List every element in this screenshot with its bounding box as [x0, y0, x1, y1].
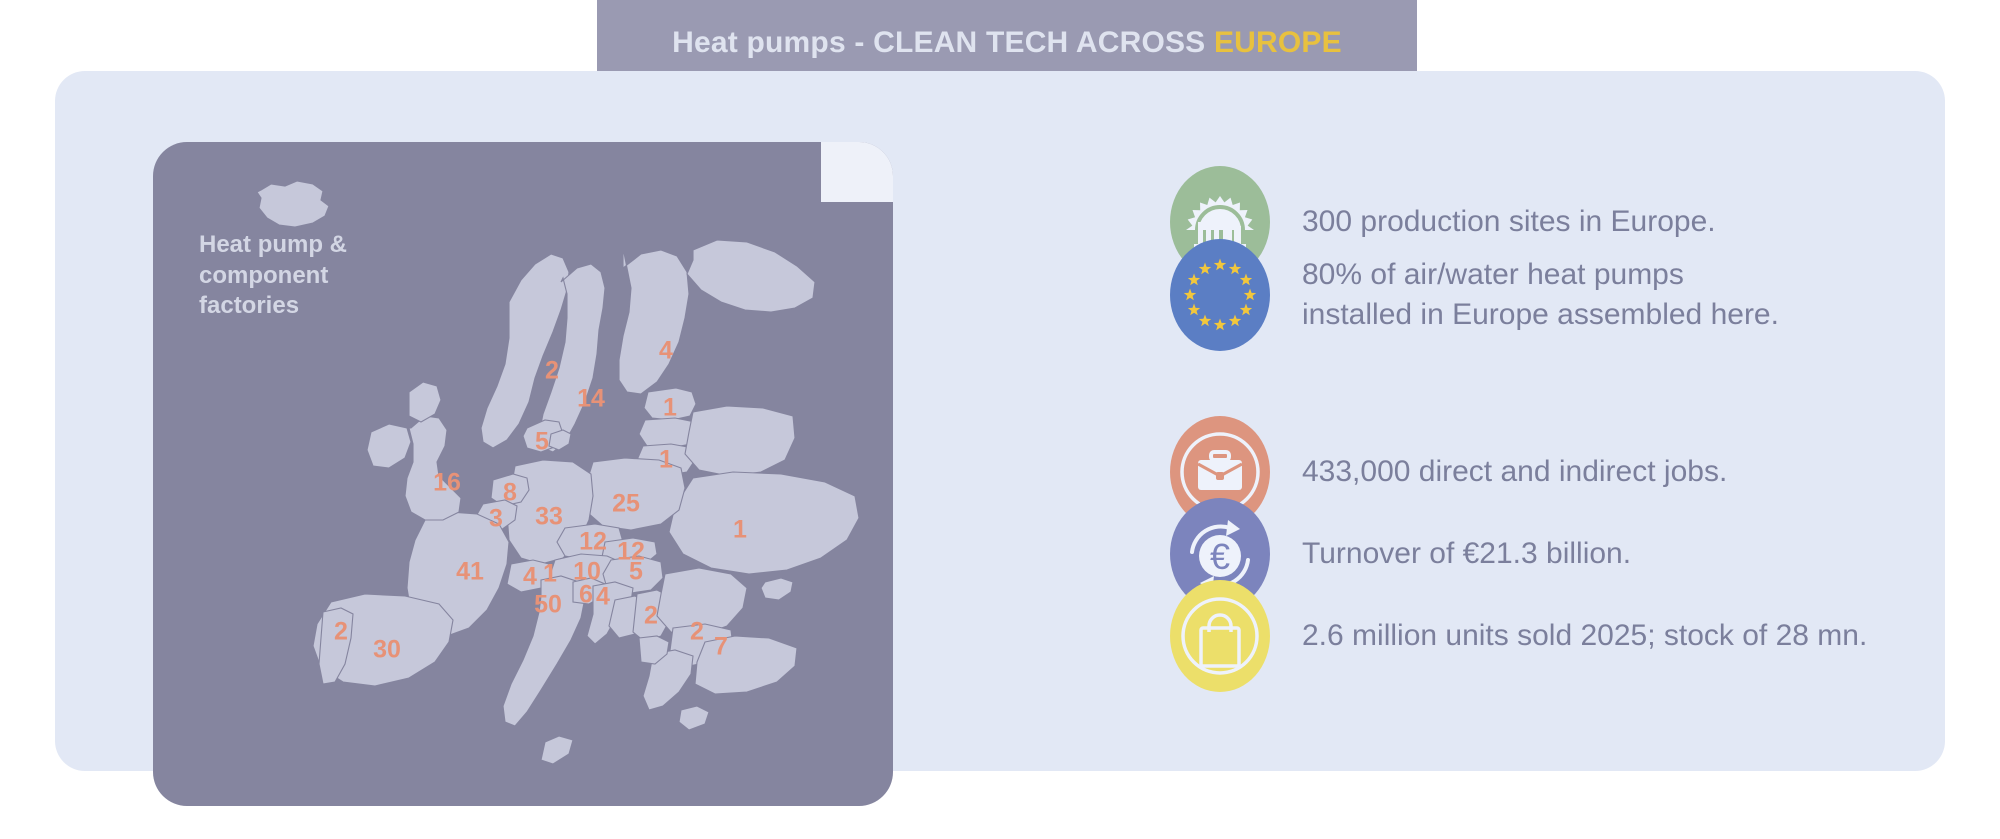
map-count-denmark: 5 [535, 428, 549, 457]
page-title-highlight: EUROPE [1214, 26, 1342, 59]
map-count-norway: 2 [545, 357, 559, 386]
fact-row-2: 80% of air/water heat pumps installed in… [1170, 239, 1779, 351]
map-count-portugal: 2 [334, 618, 348, 647]
europe-map-panel[interactable]: Heat pump & component factories 21441151… [153, 142, 893, 806]
fact-text-4: Turnover of €21.3 billion. [1302, 534, 1631, 574]
map-count-croatia: 4 [596, 583, 610, 612]
map-count-netherlands: 8 [503, 479, 517, 508]
fact-text-3: 433,000 direct and indirect jobs. [1302, 452, 1727, 492]
map-count-slovenia: 6 [579, 581, 593, 610]
fact-row-5: 2.6 million units sold 2025; stock of 28… [1170, 580, 1867, 692]
fact-text-2: 80% of air/water heat pumps installed in… [1302, 255, 1779, 334]
map-count-czechia: 12 [579, 528, 607, 557]
infographic-root: Heat pumps - CLEAN TECH ACROSS EUROPE [0, 0, 2000, 839]
map-count-estonia: 1 [663, 394, 677, 423]
fact-text-5: 2.6 million units sold 2025; stock of 28… [1302, 616, 1867, 656]
shopping-bag-icon [1170, 580, 1270, 692]
map-count-italy: 50 [534, 591, 562, 620]
map-count-ukraine: 1 [733, 516, 747, 545]
map-legend-title: Heat pump & component factories [199, 230, 347, 322]
map-corner-notch [821, 142, 893, 202]
map-count-hungary: 5 [629, 558, 643, 587]
map-count-latvia-lithuania: 1 [659, 446, 673, 475]
main-card: Heat pump & component factories 21441151… [55, 71, 1945, 771]
map-count-switzerland: 4 [523, 563, 537, 592]
map-count-romania: 2 [690, 618, 704, 647]
map-count-france: 41 [456, 558, 484, 587]
map-count-serbia: 2 [644, 602, 658, 631]
eu-stars-icon [1170, 239, 1270, 351]
map-count-finland: 4 [659, 337, 673, 366]
fact-text-1: 300 production sites in Europe. [1302, 202, 1716, 242]
map-count-liechtenstein: 1 [543, 560, 557, 589]
map-count-belgium: 3 [489, 505, 503, 534]
map-count-germany: 33 [535, 503, 563, 532]
page-title: Heat pumps - CLEAN TECH ACROSS EUROPE [672, 26, 1342, 60]
map-count-turkey: 7 [714, 633, 728, 662]
map-count-poland: 25 [612, 490, 640, 519]
map-count-united-kingdom: 16 [433, 469, 461, 498]
svg-text:€: € [1210, 536, 1230, 577]
map-count-spain: 30 [373, 636, 401, 665]
page-title-prefix: Heat pumps - CLEAN TECH ACROSS [672, 26, 1214, 59]
map-count-sweden: 14 [577, 385, 605, 414]
